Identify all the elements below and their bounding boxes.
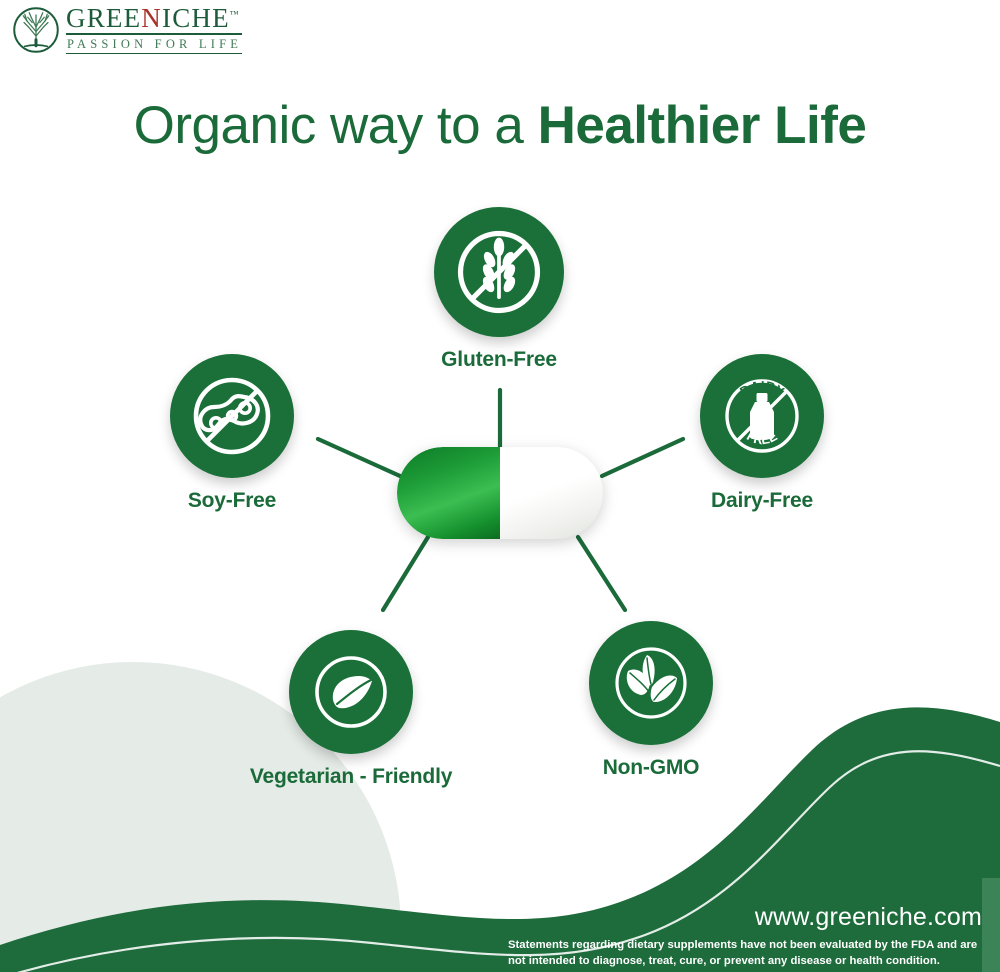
badge-circle-dairy-free: DAIRY FREE xyxy=(700,354,824,478)
fda-disclaimer: Statements regarding dietary supplements… xyxy=(508,938,978,969)
badge-label-non-gmo: Non-GMO xyxy=(521,756,781,780)
badge-gluten-free[interactable]: Gluten-Free xyxy=(364,207,634,372)
headline-light-part: Organic way to a xyxy=(134,96,538,155)
logo-divider-bottom xyxy=(66,53,242,54)
logo-word-part-2: ICHE xyxy=(162,3,230,33)
capsule-green-half xyxy=(397,447,500,539)
badge-soy-free[interactable]: Soy-Free xyxy=(102,354,362,513)
supplement-capsule xyxy=(397,447,603,539)
badge-circle-soy-free xyxy=(170,354,294,478)
capsule-white-half xyxy=(500,447,603,539)
tree-in-circle-icon xyxy=(12,6,60,54)
page-title: Organic way to a Healthier Life xyxy=(0,96,1000,155)
brand-logo[interactable]: GREENICHE™ PASSION FOR LIFE xyxy=(12,4,242,55)
badge-dairy-free[interactable]: DAIRY FREE Dairy-Free xyxy=(632,354,892,513)
logo-tagline: PASSION FOR LIFE xyxy=(66,36,242,53)
badge-label-soy-free: Soy-Free xyxy=(102,489,362,513)
badge-circle-gluten-free xyxy=(434,207,564,337)
logo-word-red-n: N xyxy=(141,3,162,33)
milk-bottle-dairy-free-icon: DAIRY FREE xyxy=(712,366,812,466)
logo-word-part-1: GREE xyxy=(66,3,141,33)
wheat-stalk-no-symbol-icon xyxy=(447,220,551,324)
badge-label-vegetarian: Vegetarian - Friendly xyxy=(216,765,486,789)
soybean-pod-no-symbol-icon xyxy=(182,366,282,466)
three-leaves-in-ring-icon xyxy=(601,633,701,733)
single-leaf-in-ring-icon xyxy=(301,642,401,742)
logo-wordmark: GREENICHE™ PASSION FOR LIFE xyxy=(66,4,242,55)
badge-vegetarian-friendly[interactable]: Vegetarian - Friendly xyxy=(216,630,486,789)
badge-label-dairy-free: Dairy-Free xyxy=(632,489,892,513)
connector-non-gmo xyxy=(578,537,625,610)
trademark-symbol: ™ xyxy=(230,9,239,19)
badge-label-gluten-free: Gluten-Free xyxy=(364,348,634,372)
badge-circle-vegetarian xyxy=(289,630,413,754)
connector-vegetarian xyxy=(383,537,428,610)
website-url[interactable]: www.greeniche.com xyxy=(755,903,982,932)
logo-word: GREENICHE™ xyxy=(66,5,242,32)
headline-bold-part: Healthier Life xyxy=(538,96,867,155)
badge-circle-non-gmo xyxy=(589,621,713,745)
badge-non-gmo[interactable]: Non-GMO xyxy=(521,621,781,780)
logo-divider-top xyxy=(66,33,242,35)
